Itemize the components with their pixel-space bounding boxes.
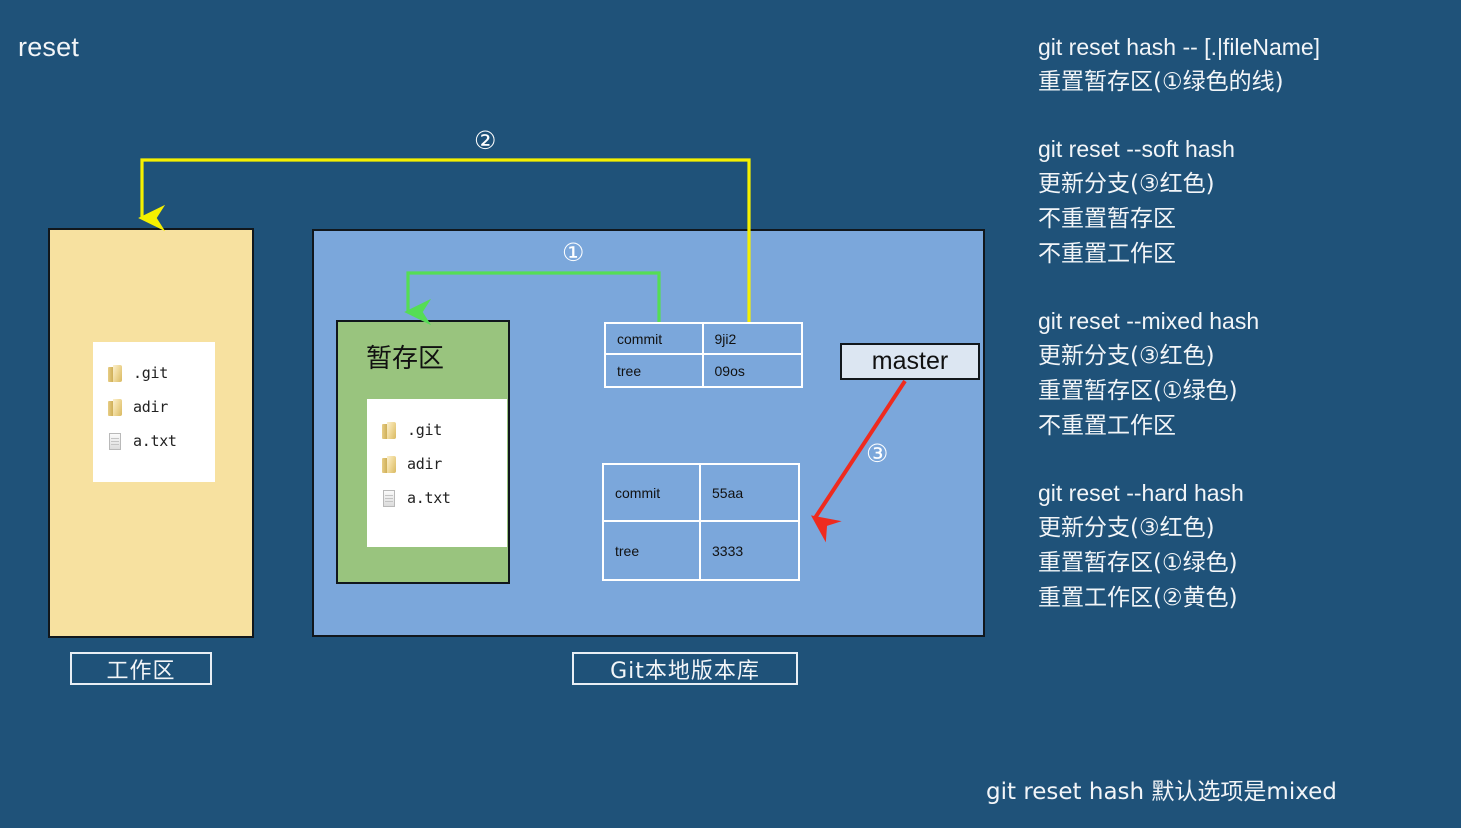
note-line: git reset --mixed hash — [1038, 304, 1458, 339]
page-title: reset — [18, 32, 79, 63]
folder-icon — [107, 364, 124, 383]
note-line: 更新分支(③红色) — [1038, 339, 1458, 374]
notes-panel: git reset hash -- [.|fileName] 重置暂存区(①绿色… — [1038, 30, 1458, 648]
note-line: 重置暂存区(①绿色) — [1038, 546, 1458, 581]
table-row: commit 55aa — [604, 465, 798, 522]
note-block-hard: git reset --hard hash 更新分支(③红色) 重置暂存区(①绿… — [1038, 476, 1458, 616]
staging-area-title: 暂存区 — [366, 338, 444, 375]
file-name: adir — [407, 455, 442, 473]
file-name: a.txt — [133, 432, 177, 450]
marker-three: ③ — [866, 441, 888, 466]
footer-note: git reset hash 默认选项是mixed — [986, 772, 1337, 806]
table-row: tree 09os — [606, 355, 801, 386]
table-cell-key: tree — [606, 355, 704, 386]
folder-icon — [107, 398, 124, 417]
repository-caption: Git本地版本库 — [572, 652, 798, 685]
note-block-soft: git reset --soft hash 更新分支(③红色) 不重置暂存区 不… — [1038, 132, 1458, 272]
folder-icon — [381, 455, 398, 474]
note-line: git reset --soft hash — [1038, 132, 1458, 167]
note-line: 更新分支(③红色) — [1038, 167, 1458, 202]
marker-two: ② — [474, 128, 496, 153]
working-area-caption: 工作区 — [70, 652, 212, 685]
file-name: .git — [133, 364, 168, 382]
commit-object-table: commit 9ji2 tree 09os — [604, 322, 803, 388]
note-line: 更新分支(③红色) — [1038, 511, 1458, 546]
note-block-reset-path: git reset hash -- [.|fileName] 重置暂存区(①绿色… — [1038, 30, 1458, 100]
note-line: git reset --hard hash — [1038, 476, 1458, 511]
note-line: 不重置工作区 — [1038, 237, 1458, 272]
table-row: commit 9ji2 — [606, 324, 801, 355]
list-item: a.txt — [107, 424, 215, 458]
branch-label-master: master — [840, 343, 980, 380]
note-line: git reset hash -- [.|fileName] — [1038, 30, 1458, 65]
list-item: adir — [107, 390, 215, 424]
working-area-box: .git adir a.txt — [48, 228, 254, 638]
staging-area-file-list: .git adir a.txt — [367, 399, 507, 547]
folder-icon — [381, 421, 398, 440]
table-cell-key: commit — [606, 324, 704, 353]
marker-one: ① — [562, 240, 584, 265]
table-cell-value: 3333 — [701, 522, 798, 579]
table-cell-value: 9ji2 — [704, 324, 802, 353]
table-cell-key: commit — [604, 465, 701, 520]
list-item: .git — [381, 413, 507, 447]
working-area-file-list: .git adir a.txt — [93, 342, 215, 482]
table-cell-value: 55aa — [701, 465, 798, 520]
file-name: a.txt — [407, 489, 451, 507]
list-item: a.txt — [381, 481, 507, 515]
note-line: 重置暂存区(①绿色) — [1038, 374, 1458, 409]
file-name: .git — [407, 421, 442, 439]
table-cell-value: 09os — [704, 355, 802, 386]
list-item: adir — [381, 447, 507, 481]
file-icon — [381, 489, 398, 508]
diagram-canvas: reset .git adir a.txt 暂存区 — [0, 0, 1461, 828]
note-line: 重置暂存区(①绿色的线) — [1038, 65, 1458, 100]
table-row: tree 3333 — [604, 522, 798, 579]
commit-object-table: commit 55aa tree 3333 — [602, 463, 800, 581]
file-icon — [107, 432, 124, 451]
note-line: 重置工作区(②黄色) — [1038, 581, 1458, 616]
file-name: adir — [133, 398, 168, 416]
note-line: 不重置暂存区 — [1038, 202, 1458, 237]
staging-area-box: 暂存区 .git adir a.txt — [336, 320, 510, 584]
note-line: 不重置工作区 — [1038, 409, 1458, 444]
list-item: .git — [107, 356, 215, 390]
table-cell-key: tree — [604, 522, 701, 579]
note-block-mixed: git reset --mixed hash 更新分支(③红色) 重置暂存区(①… — [1038, 304, 1458, 444]
